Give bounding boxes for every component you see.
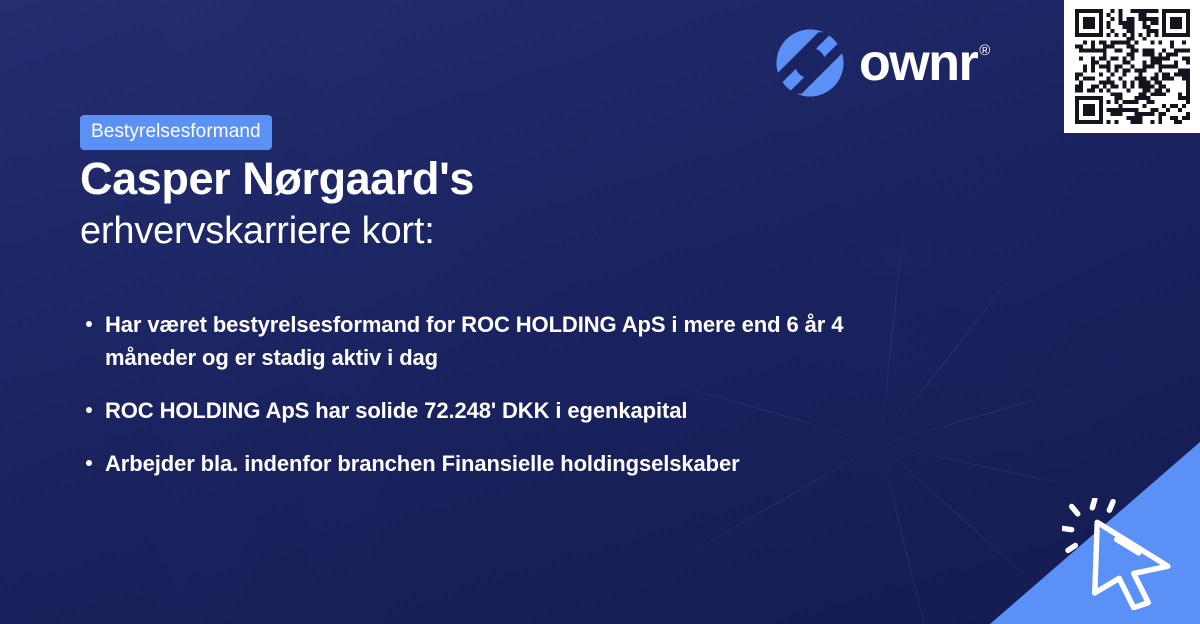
bullet-dot-icon: [86, 321, 92, 327]
bullet-dot-icon: [86, 407, 92, 413]
list-item-text: Har været bestyrelsesformand for ROC HOL…: [105, 312, 843, 370]
list-item: Har været bestyrelsesformand for ROC HOL…: [80, 308, 910, 374]
fact-list: Har været bestyrelsesformand for ROC HOL…: [80, 308, 910, 500]
role-badge: Bestyrelsesformand: [80, 115, 272, 150]
business-card-banner: Bestyrelsesformand Casper Nørgaard's erh…: [0, 0, 1200, 624]
page-title-line-1: Casper Nørgaard's: [80, 152, 900, 206]
list-item: ROC HOLDING ApS har solide 72.248' DKK i…: [80, 394, 910, 427]
list-item: Arbejder bla. indenfor branchen Finansie…: [80, 447, 910, 480]
page-title-line-2: erhvervskarriere kort:: [80, 206, 900, 256]
ownr-swirl-circle-icon: [775, 28, 845, 98]
registered-trademark-icon: ®: [979, 41, 990, 61]
list-item-text: ROC HOLDING ApS har solide 72.248' DKK i…: [105, 398, 687, 423]
qr-code-panel[interactable]: [1064, 0, 1200, 133]
ownr-wordmark: ownr ®: [859, 37, 990, 89]
page-title: Casper Nørgaard's erhvervskarriere kort:: [80, 152, 900, 256]
qr-code-icon: [1073, 9, 1192, 124]
list-item-text: Arbejder bla. indenfor branchen Finansie…: [105, 451, 740, 476]
ownr-logo[interactable]: ownr ®: [775, 28, 990, 98]
click-cursor-icon: [1062, 498, 1186, 610]
ownr-wordmark-text: ownr: [859, 37, 977, 89]
bullet-dot-icon: [86, 460, 92, 466]
